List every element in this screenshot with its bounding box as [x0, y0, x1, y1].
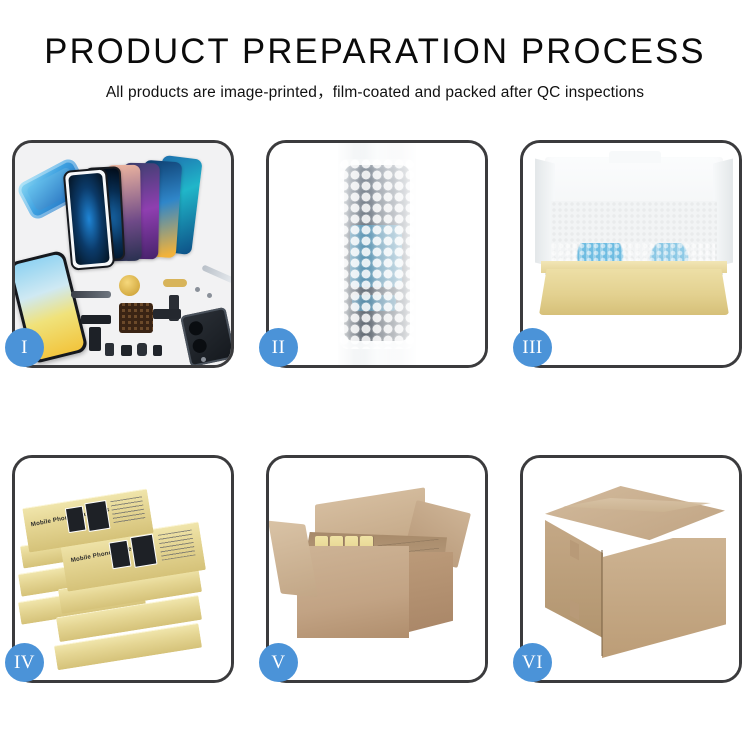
step-badge-3: III: [513, 328, 552, 367]
open-shipping-carton: [297, 510, 453, 638]
process-step-panel-4: Mobile Phone Spare Parts Mobile Phone Sp…: [12, 455, 234, 683]
step-1-image: [15, 143, 231, 365]
step-3-image: [523, 143, 739, 365]
tempered-glass-panel: [63, 167, 116, 270]
step-4-image: Mobile Phone Spare Parts Mobile Phone Sp…: [15, 458, 231, 680]
box-stack: Mobile Phone Spare Parts Mobile Phone Sp…: [19, 474, 231, 670]
bubble-wrap-illustration: [269, 143, 485, 365]
small-part-2: [121, 345, 132, 356]
screw-2: [207, 293, 212, 298]
open-inner-box-illustration: [523, 143, 739, 365]
kraft-box-body: [539, 269, 729, 315]
flex-strip-part: [71, 291, 111, 298]
spare-parts-group: [75, 273, 230, 365]
flex-cable-part-3: [163, 279, 187, 287]
box-spec-lines-1: [110, 496, 145, 525]
carton-left-face: [545, 520, 603, 638]
sealed-shipping-carton: [545, 486, 725, 656]
process-step-panel-5: V: [266, 455, 488, 683]
phones-and-parts-illustration: [15, 143, 231, 365]
screw-1: [195, 287, 200, 292]
small-part-3: [137, 343, 147, 356]
stacked-boxes-illustration: Mobile Phone Spare Parts Mobile Phone Sp…: [15, 458, 231, 680]
box-spec-lines-2: [158, 530, 196, 561]
box-window-1a: [65, 506, 87, 534]
step-6-image: [523, 458, 739, 680]
sealed-carton-illustration: [523, 458, 739, 680]
chip-array-part: [119, 303, 153, 333]
process-step-grid: I II: [0, 0, 750, 750]
tweezers-icon: [201, 264, 231, 283]
back-housing-part: [180, 307, 231, 365]
carton-side-face: [409, 552, 453, 632]
step-5-image: [269, 458, 485, 680]
step-badge-6: VI: [513, 643, 552, 682]
infographic-page: PRODUCT PREPARATION PROCESS All products…: [0, 0, 750, 750]
step-badge-1: I: [5, 328, 44, 367]
speaker-part-icon: [119, 275, 140, 296]
carton-right-face: [602, 538, 726, 658]
carton-vertical-edge: [601, 550, 603, 656]
screw-3: [201, 357, 206, 362]
small-part-4: [153, 345, 162, 356]
process-step-panel-1: I: [12, 140, 234, 368]
flex-cable-part-2: [89, 327, 101, 351]
box-window-1b: [84, 500, 110, 532]
step-2-image: [269, 143, 485, 365]
lid-tab: [609, 151, 661, 163]
small-part-1: [105, 343, 114, 356]
process-step-panel-3: III: [520, 140, 742, 368]
process-step-panel-6: VI: [520, 455, 742, 683]
step-badge-4: IV: [5, 643, 44, 682]
box-window-2b: [130, 534, 158, 568]
step-badge-2: II: [259, 328, 298, 367]
step-badge-5: V: [259, 643, 298, 682]
process-step-panel-2: II: [266, 140, 488, 368]
carton-filling-illustration: [269, 458, 485, 680]
plastic-sheen: [338, 143, 416, 365]
phone-fan-stack: [85, 159, 215, 271]
box-window-2a: [109, 540, 132, 570]
flex-cable-part-1: [81, 315, 111, 324]
flex-cable-part-5: [153, 309, 181, 319]
